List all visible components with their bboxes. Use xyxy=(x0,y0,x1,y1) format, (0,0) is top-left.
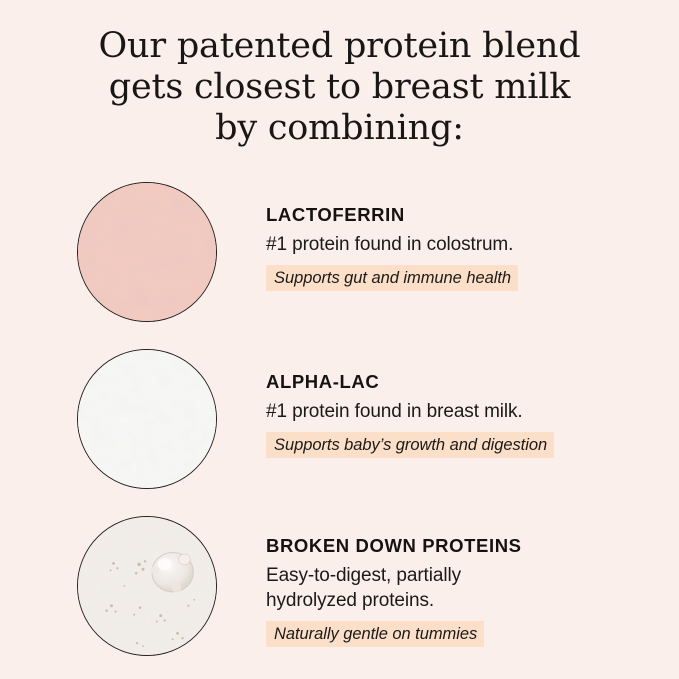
item-title: LACTOFERRIN xyxy=(266,204,659,226)
item-description: Easy-to-digest, partially hydrolyzed pro… xyxy=(266,563,659,613)
list-item: BROKEN DOWN PROTEINS Easy-to-digest, par… xyxy=(0,516,679,671)
item-tag-wrap: Naturally gentle on tummies xyxy=(266,621,659,647)
item-title: BROKEN DOWN PROTEINS xyxy=(266,535,659,557)
item-copy: ALPHA-LAC #1 protein found in breast mil… xyxy=(266,371,659,458)
broken-down-proteins-swatch xyxy=(77,516,217,656)
item-description-line: #1 protein found in colostrum. xyxy=(266,232,659,257)
item-description-line: hydrolyzed proteins. xyxy=(266,588,659,613)
list-item: ALPHA-LAC #1 protein found in breast mil… xyxy=(0,349,679,504)
item-tag-wrap: Supports gut and immune health xyxy=(266,265,659,291)
lactoferrin-powder-swatch xyxy=(77,182,217,322)
page-title: Our patented protein blend gets closest … xyxy=(0,26,679,149)
item-copy: LACTOFERRIN #1 protein found in colostru… xyxy=(266,204,659,291)
infographic-page: Our patented protein blend gets closest … xyxy=(0,0,679,679)
headline-line-1: Our patented protein blend xyxy=(0,26,679,67)
item-description: #1 protein found in breast milk. xyxy=(266,399,659,424)
item-description-line: Easy-to-digest, partially xyxy=(266,563,659,588)
item-copy: BROKEN DOWN PROTEINS Easy-to-digest, par… xyxy=(266,535,659,647)
list-item: LACTOFERRIN #1 protein found in colostru… xyxy=(0,182,679,337)
alpha-lac-powder-swatch xyxy=(77,349,217,489)
item-benefit-tag: Naturally gentle on tummies xyxy=(266,621,484,647)
item-title: ALPHA-LAC xyxy=(266,371,659,393)
item-description: #1 protein found in colostrum. xyxy=(266,232,659,257)
item-benefit-tag: Supports baby’s growth and digestion xyxy=(266,432,554,458)
headline-line-2: gets closest to breast milk xyxy=(0,67,679,108)
headline-line-3: by combining: xyxy=(0,108,679,149)
ingredient-list: LACTOFERRIN #1 protein found in colostru… xyxy=(0,182,679,667)
item-description-line: #1 protein found in breast milk. xyxy=(266,399,659,424)
item-tag-wrap: Supports baby’s growth and digestion xyxy=(266,432,659,458)
item-benefit-tag: Supports gut and immune health xyxy=(266,265,518,291)
